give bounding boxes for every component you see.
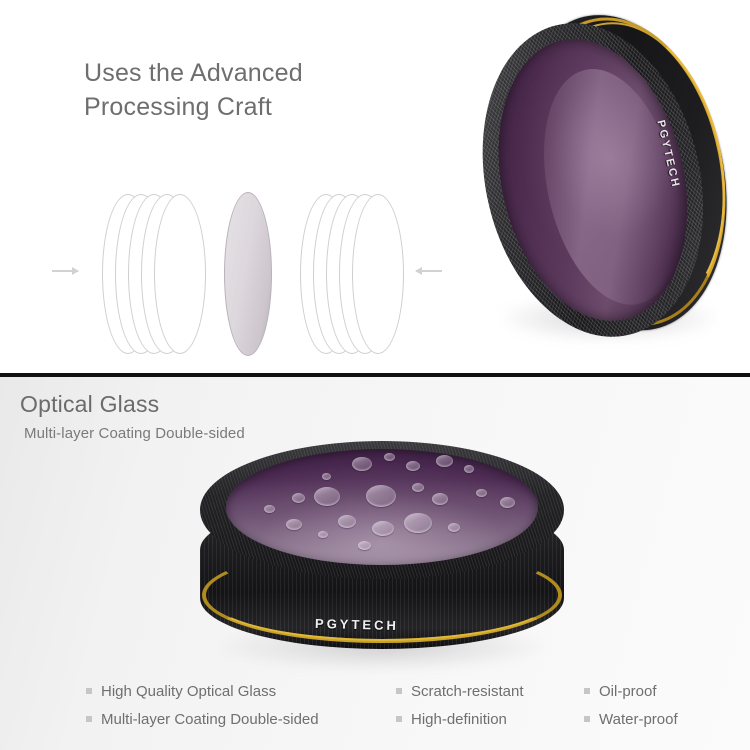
water-droplet bbox=[352, 457, 372, 471]
feature-column-2: Scratch-resistant High-definition bbox=[396, 677, 524, 733]
water-droplet bbox=[314, 487, 340, 506]
page-title: Uses the Advanced Processing Craft bbox=[84, 56, 303, 124]
water-droplet bbox=[372, 521, 394, 536]
feature-item: Water-proof bbox=[584, 705, 678, 733]
water-droplet bbox=[500, 497, 515, 508]
water-droplet bbox=[432, 493, 448, 505]
feature-column-1: High Quality Optical Glass Multi-layer C… bbox=[86, 677, 319, 733]
lens-glass bbox=[226, 449, 538, 565]
water-droplet bbox=[264, 505, 275, 513]
feature-item: Oil-proof bbox=[584, 677, 678, 705]
feature-label: Water-proof bbox=[599, 711, 678, 728]
water-droplet bbox=[358, 541, 371, 550]
bullet-square-icon bbox=[86, 716, 92, 722]
feature-label: Scratch-resistant bbox=[411, 683, 524, 700]
water-droplet bbox=[406, 461, 420, 471]
bullet-square-icon bbox=[584, 688, 590, 694]
coating-layer bbox=[352, 194, 404, 354]
bottom-panel: Optical Glass Multi-layer Coating Double… bbox=[0, 377, 750, 750]
feature-label: High-definition bbox=[411, 711, 507, 728]
optical-glass-core bbox=[224, 192, 272, 356]
multi-layer-coating-diagram bbox=[52, 186, 442, 366]
water-droplet bbox=[476, 489, 487, 497]
bullet-square-icon bbox=[86, 688, 92, 694]
water-droplet bbox=[448, 523, 460, 532]
water-droplet bbox=[318, 531, 328, 538]
bullet-square-icon bbox=[584, 716, 590, 722]
feature-label: High Quality Optical Glass bbox=[101, 683, 276, 700]
coating-stack-left bbox=[102, 186, 212, 366]
water-droplet bbox=[404, 513, 432, 533]
feature-label: Multi-layer Coating Double-sided bbox=[101, 711, 319, 728]
coating-layer bbox=[154, 194, 206, 354]
arrow-right-icon bbox=[52, 270, 78, 272]
lens-filter-waterdrop-photo: PGYTECH bbox=[182, 429, 582, 679]
lens-filter-body: PGYTECH bbox=[448, 0, 750, 368]
lens-filter-angled-photo: PGYTECH bbox=[476, 8, 744, 364]
feature-label: Oil-proof bbox=[599, 683, 657, 700]
water-droplet bbox=[292, 493, 305, 503]
product-feature-graphic: Uses the Advanced Processing Craft bbox=[0, 0, 750, 750]
water-droplet bbox=[322, 473, 331, 480]
section-title: Optical Glass bbox=[20, 391, 159, 418]
bullet-square-icon bbox=[396, 688, 402, 694]
brand-logo: PGYTECH bbox=[315, 616, 399, 633]
bullet-square-icon bbox=[396, 716, 402, 722]
feature-column-3: Oil-proof Water-proof bbox=[584, 677, 678, 733]
water-droplet bbox=[338, 515, 356, 528]
feature-item: Scratch-resistant bbox=[396, 677, 524, 705]
feature-list: High Quality Optical Glass Multi-layer C… bbox=[0, 677, 750, 747]
water-droplet bbox=[286, 519, 302, 530]
water-droplet bbox=[384, 453, 395, 461]
water-droplet bbox=[366, 485, 396, 507]
water-droplet bbox=[464, 465, 474, 473]
feature-item: High-definition bbox=[396, 705, 524, 733]
top-panel: Uses the Advanced Processing Craft bbox=[0, 0, 750, 373]
water-droplet bbox=[436, 455, 453, 467]
arrow-left-icon bbox=[416, 270, 442, 272]
feature-item: Multi-layer Coating Double-sided bbox=[86, 705, 319, 733]
feature-item: High Quality Optical Glass bbox=[86, 677, 319, 705]
water-droplet bbox=[412, 483, 424, 492]
coating-stack-right bbox=[300, 186, 410, 366]
